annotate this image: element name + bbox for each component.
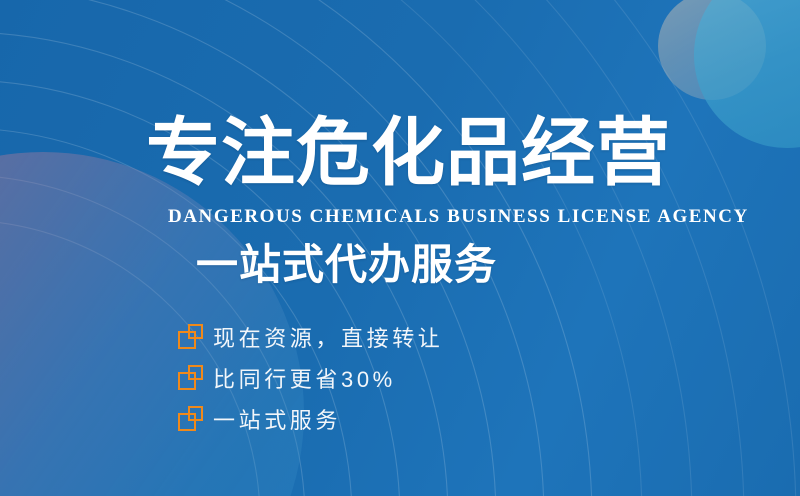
english-subtitle: DANGEROUS CHEMICALS BUSINESS LICENSE AGE…: [168, 206, 749, 228]
list-item: 比同行更省30%: [178, 357, 443, 398]
banner-content: 专注危化品经营 DANGEROUS CHEMICALS BUSINESS LIC…: [0, 0, 800, 496]
list-item: 一站式服务: [178, 398, 443, 439]
overlapping-squares-icon: [178, 406, 203, 431]
feature-list: 现在资源，直接转让 比同行更省30% 一站式服务: [178, 316, 443, 439]
promotional-banner: 专注危化品经营 DANGEROUS CHEMICALS BUSINESS LIC…: [0, 0, 800, 496]
list-item-label: 现在资源，直接转让: [213, 321, 443, 353]
overlapping-squares-icon: [178, 324, 203, 349]
overlapping-squares-icon: [178, 365, 203, 390]
list-item-label: 比同行更省30%: [213, 362, 396, 394]
secondary-headline: 一站式代办服务: [196, 244, 497, 286]
list-item-label: 一站式服务: [213, 403, 341, 435]
list-item: 现在资源，直接转让: [178, 316, 443, 357]
primary-headline: 专注危化品经营: [146, 116, 671, 190]
